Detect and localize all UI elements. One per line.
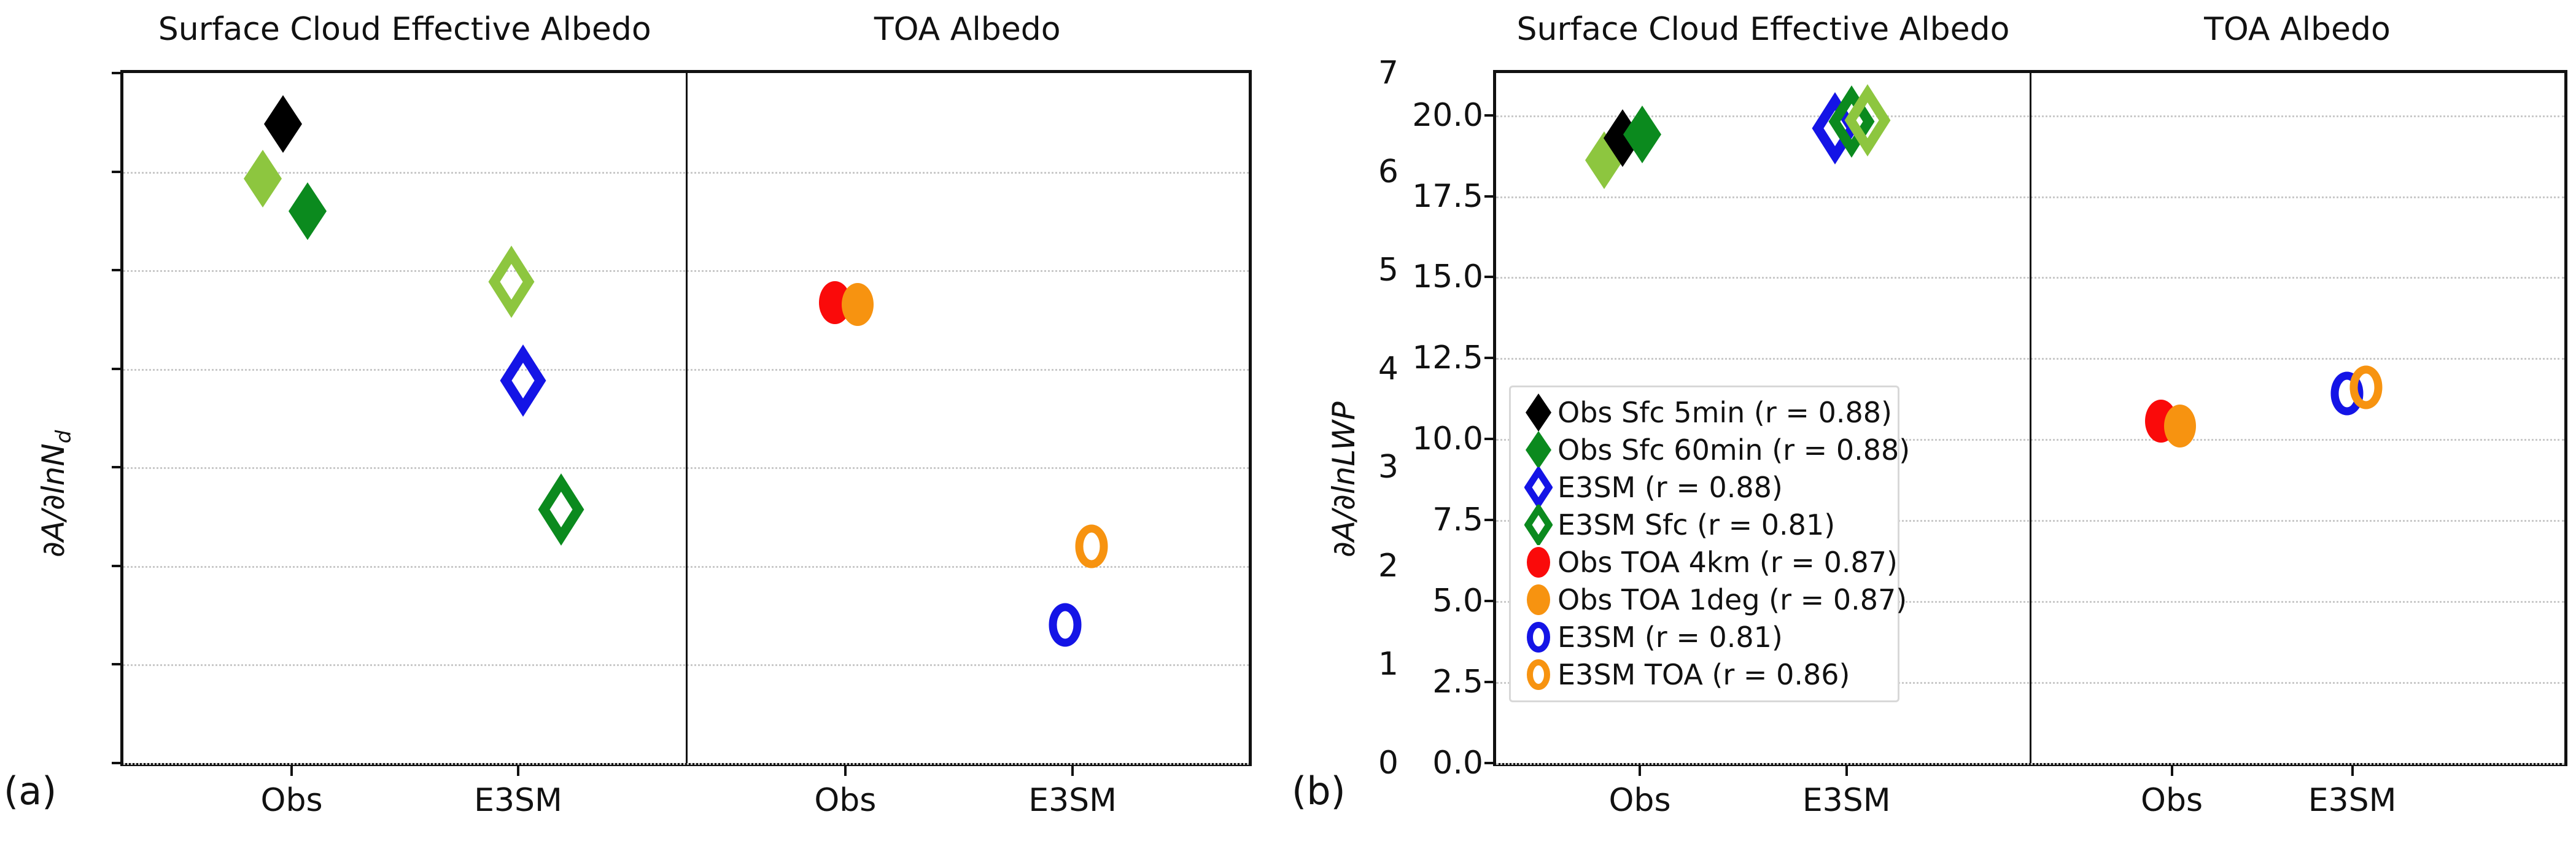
x-tick-mark bbox=[844, 766, 847, 776]
legend-item-label: Obs TOA 4km (r = 0.87) bbox=[1558, 548, 1898, 576]
x-tick-mark bbox=[290, 766, 293, 776]
group-divider-b bbox=[2030, 73, 2031, 763]
x-tick-mark bbox=[2171, 766, 2173, 776]
x-tick-mark bbox=[1639, 766, 1641, 776]
group-title-surface-cloud-effective-albedo-a: Surface Cloud Effective Albedo bbox=[98, 11, 712, 48]
y-tick-mark bbox=[1484, 276, 1493, 278]
y-tick-mark bbox=[1484, 681, 1493, 683]
y-tick-label: 20.0 bbox=[1412, 97, 1483, 134]
y-tick-mark bbox=[112, 72, 120, 74]
x-tick-label: Obs bbox=[261, 782, 323, 819]
y-tick-label: 0.0 bbox=[1432, 745, 1483, 781]
figure-canvas: Surface Cloud Effective Albedo TOA Albed… bbox=[0, 0, 2576, 841]
legend-item: E3SM (r = 0.81) bbox=[1519, 618, 1889, 656]
data-point-marker bbox=[842, 283, 874, 326]
panel-letter-a: (a) bbox=[4, 769, 56, 813]
y-tick-label: 1 bbox=[1378, 646, 1399, 683]
y-tick-mark bbox=[1484, 438, 1493, 440]
y-tick-mark bbox=[112, 269, 120, 271]
legend-item-label: E3SM (r = 0.81) bbox=[1558, 623, 1783, 651]
legend: Obs Sfc 5min (r = 0.88)Obs Sfc 60min (r … bbox=[1509, 386, 1899, 702]
y-tick-label: 2 bbox=[1378, 548, 1399, 584]
legend-item-label: E3SM TOA (r = 0.86) bbox=[1558, 661, 1850, 689]
diamond-open-icon bbox=[1519, 467, 1558, 508]
circle-filled-icon bbox=[1519, 544, 1558, 581]
y-tick-mark bbox=[112, 368, 120, 370]
panel-letter-b: (b) bbox=[1292, 769, 1346, 813]
data-point-marker bbox=[244, 150, 282, 207]
x-tick-mark bbox=[517, 766, 519, 776]
y-tick-mark bbox=[112, 565, 120, 567]
y-tick-label: 3 bbox=[1378, 449, 1399, 486]
data-point-marker bbox=[504, 352, 542, 409]
diamond-open-icon bbox=[1519, 505, 1558, 545]
legend-item: Obs Sfc 60min (r = 0.88) bbox=[1519, 431, 1889, 468]
y-tick-mark bbox=[112, 663, 120, 665]
data-point-marker bbox=[1623, 106, 1661, 163]
y-tick-label: 7.5 bbox=[1432, 502, 1483, 538]
x-tick-label: Obs bbox=[814, 782, 876, 819]
legend-item: Obs TOA 1deg (r = 0.87) bbox=[1519, 581, 1889, 618]
y-tick-label: 2.5 bbox=[1432, 664, 1483, 700]
panel-a: Surface Cloud Effective Albedo TOA Albed… bbox=[0, 0, 1288, 841]
plot-area-a bbox=[120, 70, 1252, 766]
y-tick-mark bbox=[1484, 195, 1493, 198]
y-tick-label: 4 bbox=[1378, 351, 1399, 387]
x-tick-mark bbox=[1845, 766, 1848, 776]
data-point-marker bbox=[1076, 525, 1108, 568]
y-tick-label: 17.5 bbox=[1412, 178, 1483, 215]
y-tick-label: 5.0 bbox=[1432, 583, 1483, 619]
legend-item: E3SM (r = 0.88) bbox=[1519, 468, 1889, 506]
legend-item: Obs Sfc 5min (r = 0.88) bbox=[1519, 393, 1889, 431]
diamond-filled-icon bbox=[1519, 392, 1558, 433]
legend-item: E3SM Sfc (r = 0.81) bbox=[1519, 506, 1889, 543]
y-tick-mark bbox=[1484, 519, 1493, 521]
legend-item: E3SM TOA (r = 0.86) bbox=[1519, 656, 1889, 693]
y-tick-mark bbox=[1484, 600, 1493, 602]
x-tick-label: Obs bbox=[1609, 782, 1671, 819]
y-tick-mark bbox=[1484, 357, 1493, 359]
y-tick-label: 6 bbox=[1378, 153, 1399, 190]
group-title-toa-albedo-b: TOA Albedo bbox=[1990, 11, 2576, 48]
data-point-marker bbox=[492, 253, 530, 311]
gridline bbox=[1496, 763, 2564, 765]
y-tick-label: 0 bbox=[1378, 745, 1399, 781]
circle-open-icon bbox=[1519, 656, 1558, 693]
legend-item-label: E3SM Sfc (r = 0.81) bbox=[1558, 511, 1835, 539]
y-axis-a bbox=[0, 0, 108, 841]
diamond-filled-icon bbox=[1519, 430, 1558, 470]
legend-item-label: E3SM (r = 0.88) bbox=[1558, 473, 1783, 502]
x-tick-label: E3SM bbox=[2308, 782, 2397, 819]
data-point-marker bbox=[1049, 603, 1081, 646]
y-tick-mark bbox=[1484, 762, 1493, 764]
x-tick-mark bbox=[1071, 766, 1074, 776]
legend-item-label: Obs Sfc 5min (r = 0.88) bbox=[1558, 398, 1892, 427]
data-point-marker bbox=[542, 481, 580, 538]
circle-open-icon bbox=[1519, 619, 1558, 656]
legend-item: Obs TOA 4km (r = 0.87) bbox=[1519, 543, 1889, 581]
y-tick-mark bbox=[112, 466, 120, 468]
y-tick-label: 15.0 bbox=[1412, 258, 1483, 295]
group-divider-a bbox=[686, 73, 688, 763]
y-axis-label-b: ∂A/∂lnLWP bbox=[1326, 401, 1362, 557]
group-title-surface-cloud-effective-albedo-b: Surface Cloud Effective Albedo bbox=[1456, 11, 2070, 48]
y-axis-label-a: ∂A/∂lnNd bbox=[36, 430, 76, 557]
y-tick-mark bbox=[112, 762, 120, 764]
x-tick-label: E3SM bbox=[474, 782, 562, 819]
x-tick-label: Obs bbox=[2141, 782, 2203, 819]
x-tick-mark bbox=[2351, 766, 2354, 776]
x-tick-label: E3SM bbox=[1802, 782, 1891, 819]
x-tick-label: E3SM bbox=[1028, 782, 1117, 819]
y-tick-label: 12.5 bbox=[1412, 339, 1483, 376]
legend-item-label: Obs Sfc 60min (r = 0.88) bbox=[1558, 436, 1910, 464]
data-point-marker bbox=[2350, 366, 2382, 409]
y-tick-label: 7 bbox=[1378, 55, 1399, 91]
y-tick-label: 10.0 bbox=[1412, 420, 1483, 457]
y-tick-label: 5 bbox=[1378, 252, 1399, 289]
data-point-marker bbox=[289, 182, 327, 240]
data-point-marker bbox=[1849, 91, 1887, 149]
y-tick-mark bbox=[1484, 114, 1493, 117]
circle-filled-icon bbox=[1519, 581, 1558, 618]
gridline bbox=[123, 763, 1249, 765]
data-point-marker bbox=[2164, 405, 2196, 448]
y-tick-mark bbox=[112, 171, 120, 173]
group-title-toa-albedo-a: TOA Albedo bbox=[661, 11, 1274, 48]
legend-item-label: Obs TOA 1deg (r = 0.87) bbox=[1558, 586, 1907, 614]
data-point-marker bbox=[264, 95, 302, 153]
